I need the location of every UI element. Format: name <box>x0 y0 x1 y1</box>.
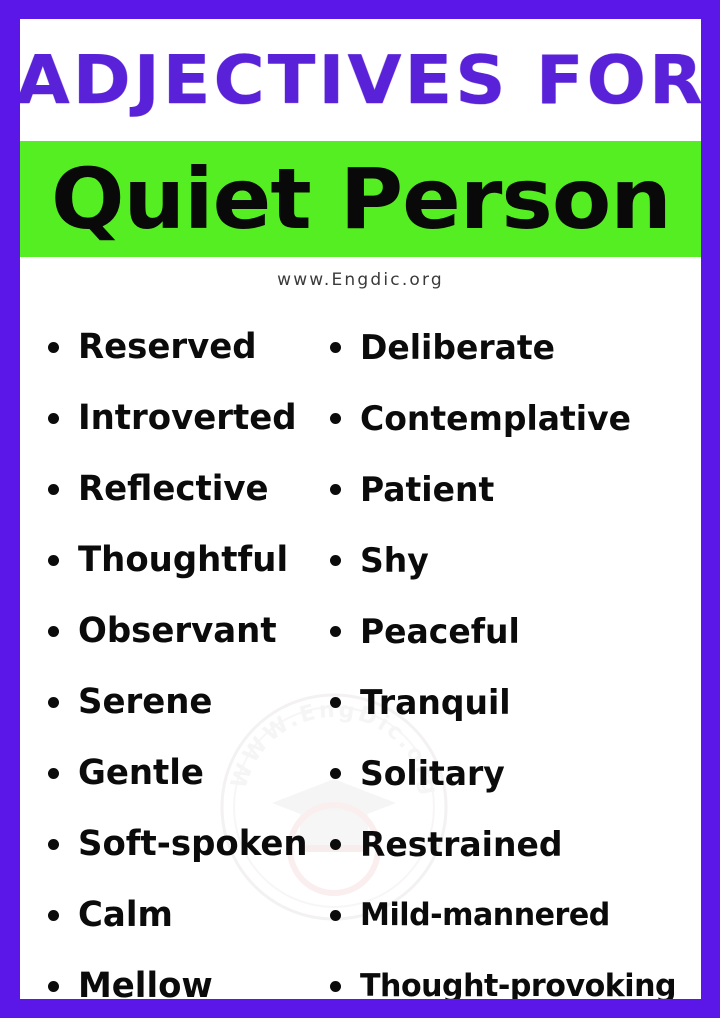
list-item[interactable]: Solitary <box>330 738 700 809</box>
list-item[interactable]: Reflective <box>48 454 320 525</box>
adjective-label: Gentle <box>78 756 204 791</box>
bullet-icon <box>48 484 59 495</box>
list-item[interactable]: Contemplative <box>330 383 700 454</box>
adjective-label: Soft-spoken <box>78 827 308 862</box>
bullet-icon <box>48 910 59 921</box>
adjective-label: Thought-provoking <box>360 971 676 999</box>
site-url-line: www.Engdic.org <box>20 257 701 303</box>
column-right: Deliberate Contemplative Patient Shy <box>320 312 700 999</box>
adjective-list-right: Deliberate Contemplative Patient Shy <box>330 312 700 999</box>
list-item[interactable]: Mild-mannered <box>330 880 700 951</box>
adjective-label: Mild-mannered <box>360 900 610 931</box>
adjective-label: Peaceful <box>360 615 520 649</box>
adjective-label: Solitary <box>360 757 505 791</box>
bullet-icon <box>330 555 341 566</box>
bullet-icon <box>48 981 59 992</box>
list-item[interactable]: Observant <box>48 596 320 667</box>
bullet-icon <box>330 342 341 353</box>
list-item[interactable]: Deliberate <box>330 312 700 383</box>
adjective-label: Introverted <box>78 401 297 436</box>
bullet-icon <box>330 484 341 495</box>
bullet-icon <box>330 839 341 850</box>
list-item[interactable]: Peaceful <box>330 596 700 667</box>
list-item[interactable]: Serene <box>48 667 320 738</box>
list-item[interactable]: Mellow <box>48 951 320 999</box>
bullet-icon <box>48 626 59 637</box>
poster-root: ADJECTIVES FOR Quiet Person www.Engdic.o… <box>0 0 720 1018</box>
adjective-label: Deliberate <box>360 331 555 365</box>
bullet-icon <box>330 768 341 779</box>
column-left: Reserved Introverted Reflective Thoughtf… <box>20 312 320 999</box>
bullet-icon <box>48 768 59 779</box>
list-item[interactable]: Introverted <box>48 383 320 454</box>
list-item[interactable]: Tranquil <box>330 667 700 738</box>
adjective-label: Restrained <box>360 828 562 862</box>
adjective-label: Thoughtful <box>78 543 288 578</box>
bullet-icon <box>330 981 341 992</box>
adjective-label: Tranquil <box>360 686 511 720</box>
list-item[interactable]: Patient <box>330 454 700 525</box>
bullet-icon <box>330 910 341 921</box>
adjective-label: Mellow <box>78 969 213 999</box>
bullet-icon <box>330 697 341 708</box>
site-url: www.Engdic.org <box>277 270 444 290</box>
kicker-band: ADJECTIVES FOR <box>20 19 701 141</box>
bullet-icon <box>48 555 59 566</box>
adjective-label: Calm <box>78 898 173 933</box>
title-banner: Quiet Person <box>20 141 701 257</box>
list-item[interactable]: Gentle <box>48 738 320 809</box>
adjective-label: Reflective <box>78 472 269 507</box>
adjective-label: Patient <box>360 473 494 507</box>
page-title: Quiet Person <box>51 157 671 241</box>
bullet-icon <box>48 839 59 850</box>
adjective-label: Shy <box>360 544 429 578</box>
adjective-label: Contemplative <box>360 402 631 436</box>
adjective-columns: Reserved Introverted Reflective Thoughtf… <box>20 303 701 999</box>
page-kicker: ADJECTIVES FOR <box>20 47 701 114</box>
list-item[interactable]: Soft-spoken <box>48 809 320 880</box>
adjective-list-left: Reserved Introverted Reflective Thoughtf… <box>48 312 320 999</box>
list-item[interactable]: Reserved <box>48 312 320 383</box>
adjective-label: Serene <box>78 685 212 720</box>
adjective-label: Observant <box>78 614 277 649</box>
poster-inner: ADJECTIVES FOR Quiet Person www.Engdic.o… <box>20 19 701 999</box>
adjective-label: Reserved <box>78 330 257 365</box>
list-item[interactable]: Thoughtful <box>48 525 320 596</box>
list-item[interactable]: Shy <box>330 525 700 596</box>
list-item[interactable]: Calm <box>48 880 320 951</box>
bullet-icon <box>330 626 341 637</box>
bullet-icon <box>48 697 59 708</box>
list-item[interactable]: Thought-provoking <box>330 951 700 999</box>
list-item[interactable]: Restrained <box>330 809 700 880</box>
bullet-icon <box>330 413 341 424</box>
bullet-icon <box>48 342 59 353</box>
bullet-icon <box>48 413 59 424</box>
